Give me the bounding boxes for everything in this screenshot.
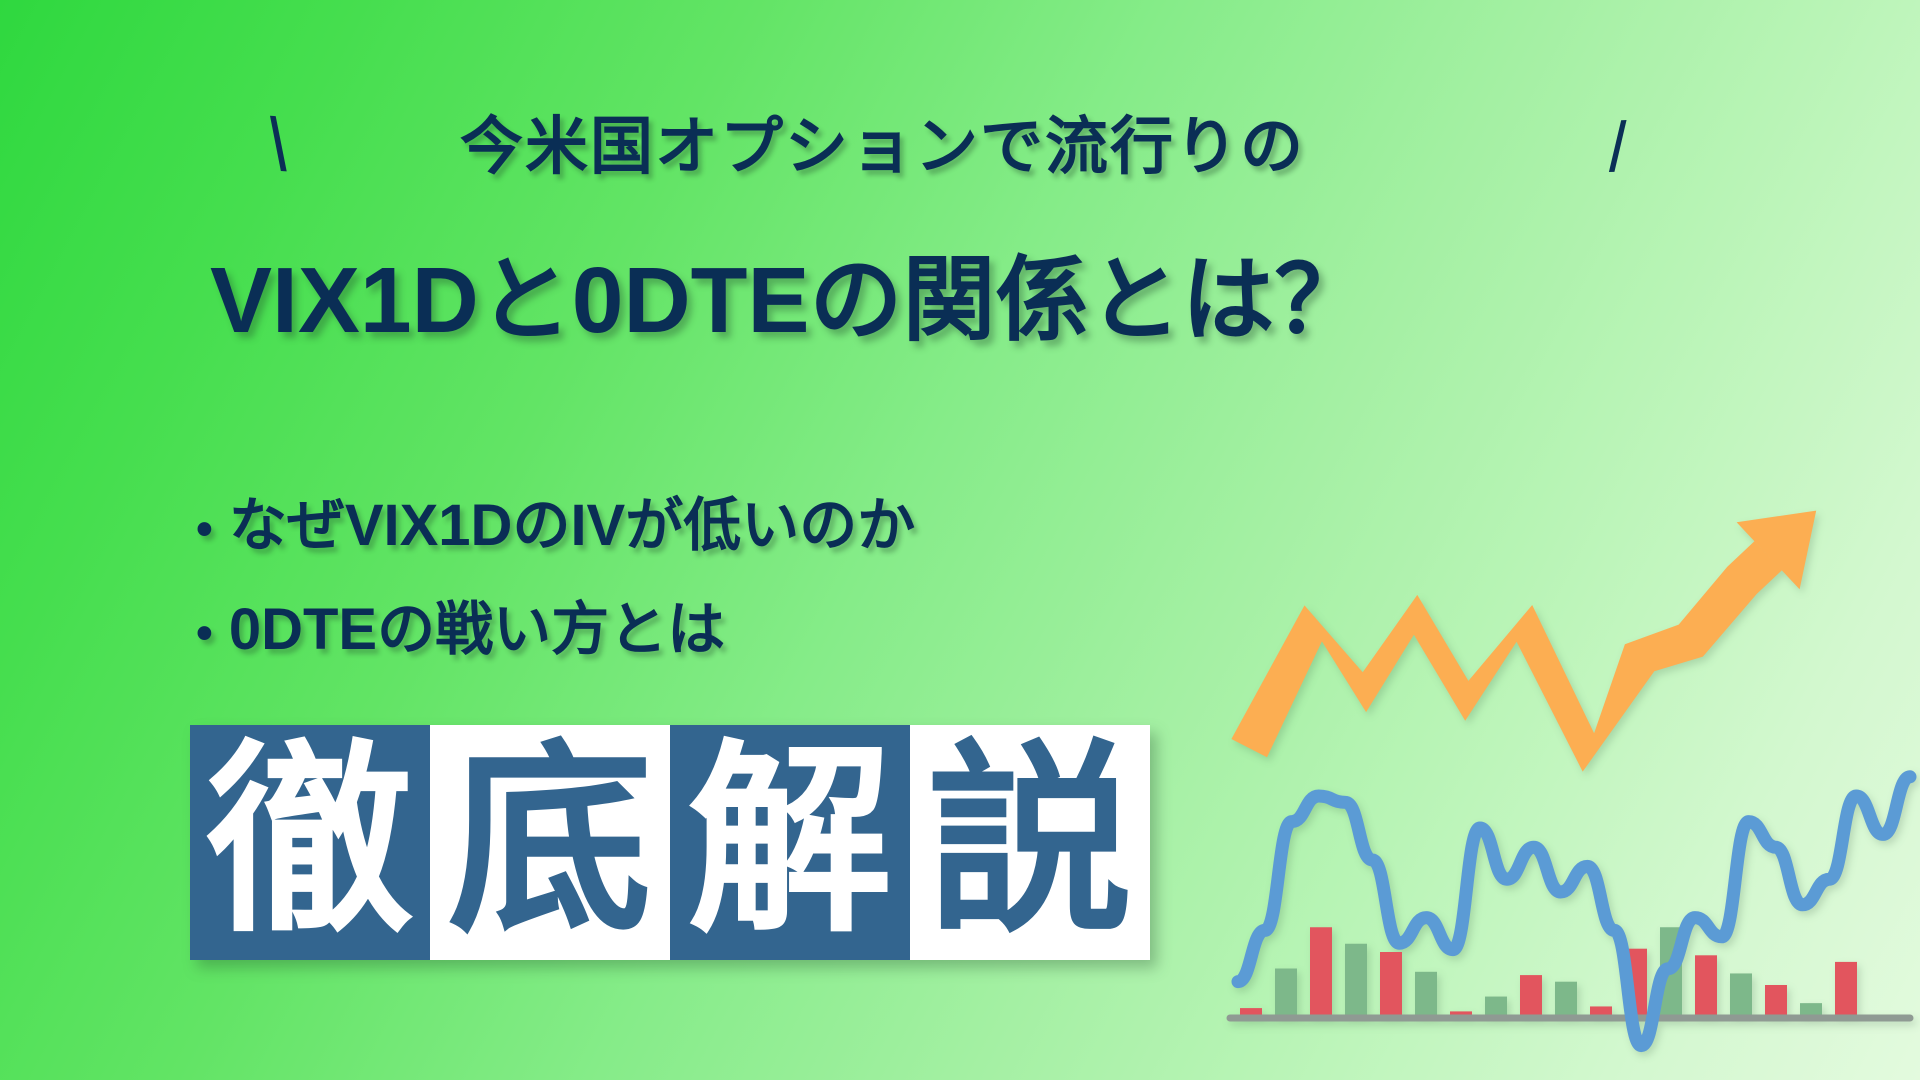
chart-bar <box>1800 1003 1822 1018</box>
chart-bar <box>1275 969 1297 1019</box>
bullet-dot-icon: • <box>196 610 213 658</box>
eyebrow-text: 今米国オプションで流行りの <box>460 96 1305 187</box>
chart-bar <box>1380 952 1402 1018</box>
chart-bar <box>1520 975 1542 1018</box>
emphasis-char: 底 <box>448 740 653 945</box>
chart-bar <box>1835 962 1857 1018</box>
bullet-list: • なぜVIX1DのIVが低いのか • 0DTEの戦い方とは <box>196 478 915 686</box>
chart-bar <box>1485 997 1507 1018</box>
list-item: • なぜVIX1DのIVが低いのか <box>196 478 915 562</box>
list-item-label: 0DTEの戦い方とは <box>229 582 725 666</box>
decorative-slash-left-icon: \ <box>265 107 291 182</box>
chart-bar <box>1765 985 1787 1018</box>
chart-bar <box>1730 973 1752 1018</box>
chart-bar <box>1450 1011 1472 1018</box>
emphasis-char: 解 <box>688 740 893 945</box>
chart-bar <box>1695 955 1717 1018</box>
market-chart-svg <box>1220 420 1920 1080</box>
poster-canvas: \ / 今米国オプションで流行りの VIX1Dと0DTEの関係とは？ • なぜV… <box>0 0 1920 1080</box>
chart-bar <box>1345 944 1367 1018</box>
emphasis-box: 徹 <box>190 725 430 960</box>
emphasis-box: 底 <box>430 725 670 960</box>
volatility-line-path <box>1238 777 1910 1046</box>
list-item: • 0DTEの戦い方とは <box>196 582 915 666</box>
chart-bar <box>1555 982 1577 1018</box>
bullet-dot-icon: • <box>196 506 213 554</box>
page-title: VIX1Dと0DTEの関係とは？ <box>210 224 1368 359</box>
chart-bar <box>1625 949 1647 1018</box>
emphasis-char: 説 <box>928 740 1133 945</box>
chart-bar <box>1660 927 1682 1018</box>
emphasis-char: 徹 <box>208 740 413 945</box>
chart-bar <box>1310 927 1332 1018</box>
trend-arrow-icon <box>1231 511 1816 772</box>
chart-bar <box>1240 1008 1262 1018</box>
emphasis-box: 説 <box>910 725 1150 960</box>
emphasis-box: 解 <box>670 725 910 960</box>
chart-bar <box>1415 972 1437 1018</box>
emphasis-banner: 徹 底 解 説 <box>190 725 1150 960</box>
list-item-label: なぜVIX1DのIVが低いのか <box>229 478 915 562</box>
market-chart-illustration <box>1220 420 1920 1080</box>
bar-series <box>1240 927 1857 1018</box>
chart-bar <box>1590 1006 1612 1018</box>
decorative-slash-right-icon: / <box>1607 112 1629 183</box>
